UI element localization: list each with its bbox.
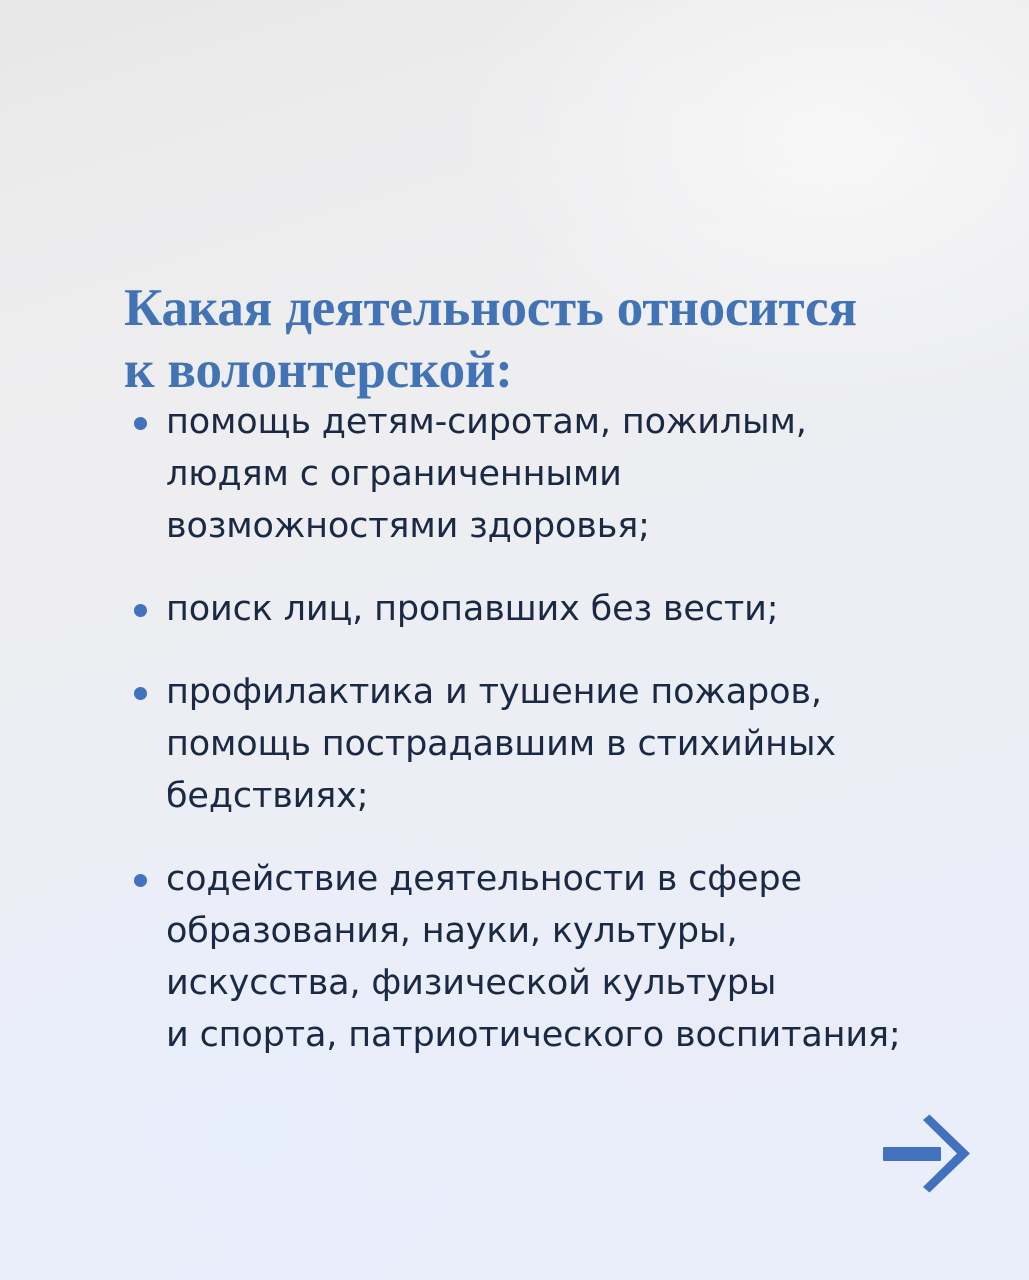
next-slide-button[interactable]: [881, 1114, 973, 1194]
arrow-right-icon: [881, 1114, 973, 1194]
list-item-text: профилактика и тушение пожаров, помощь п…: [166, 672, 836, 816]
list-item-text: помощь детям-сиротам, пожилым, людям с о…: [166, 402, 807, 546]
page-title: Какая деятельность относится к волонтерс…: [124, 277, 984, 401]
list-item: профилактика и тушение пожаров, помощь п…: [128, 666, 1008, 822]
list-item: содействие деятельности в сфере образова…: [128, 853, 1008, 1061]
list-item-text: поиск лиц, пропавших без вести;: [166, 589, 778, 629]
slide-canvas: Какая деятельность относится к волонтерс…: [0, 0, 1029, 1280]
list-item: помощь детям-сиротам, пожилым, людям с о…: [128, 396, 1008, 552]
list-item: поиск лиц, пропавших без вести;: [128, 583, 1008, 635]
list-item-text: содействие деятельности в сфере образова…: [166, 859, 901, 1055]
activity-list: помощь детям-сиротам, пожилым, людям с о…: [128, 396, 1008, 1061]
bullet-dot-icon: [134, 874, 147, 887]
bullet-dot-icon: [134, 687, 147, 700]
slide-content: Какая деятельность относится к волонтерс…: [0, 0, 1029, 1280]
bullet-dot-icon: [134, 604, 147, 617]
bullet-dot-icon: [134, 417, 147, 430]
